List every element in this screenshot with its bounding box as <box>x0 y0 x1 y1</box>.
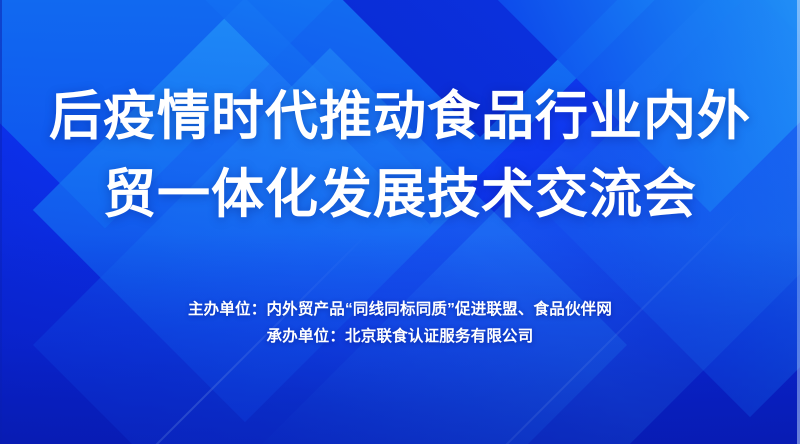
host-organization-line: 主办单位：内外贸产品“同线同标同质”促进联盟、食品伙伴网 <box>0 296 800 323</box>
conference-banner: 后疫情时代推动食品行业内外 贸一体化发展技术交流会 主办单位：内外贸产品“同线同… <box>0 0 800 444</box>
banner-title: 后疫情时代推动食品行业内外 贸一体化发展技术交流会 <box>0 78 800 234</box>
organizer-block: 主办单位：内外贸产品“同线同标同质”促进联盟、食品伙伴网 承办单位：北京联食认证… <box>0 296 800 350</box>
banner-title-line-2: 贸一体化发展技术交流会 <box>0 156 800 234</box>
banner-title-line-1: 后疫情时代推动食品行业内外 <box>0 78 800 156</box>
banner-content: 后疫情时代推动食品行业内外 贸一体化发展技术交流会 主办单位：内外贸产品“同线同… <box>0 0 800 444</box>
undertaking-organization-line: 承办单位：北京联食认证服务有限公司 <box>0 323 800 350</box>
